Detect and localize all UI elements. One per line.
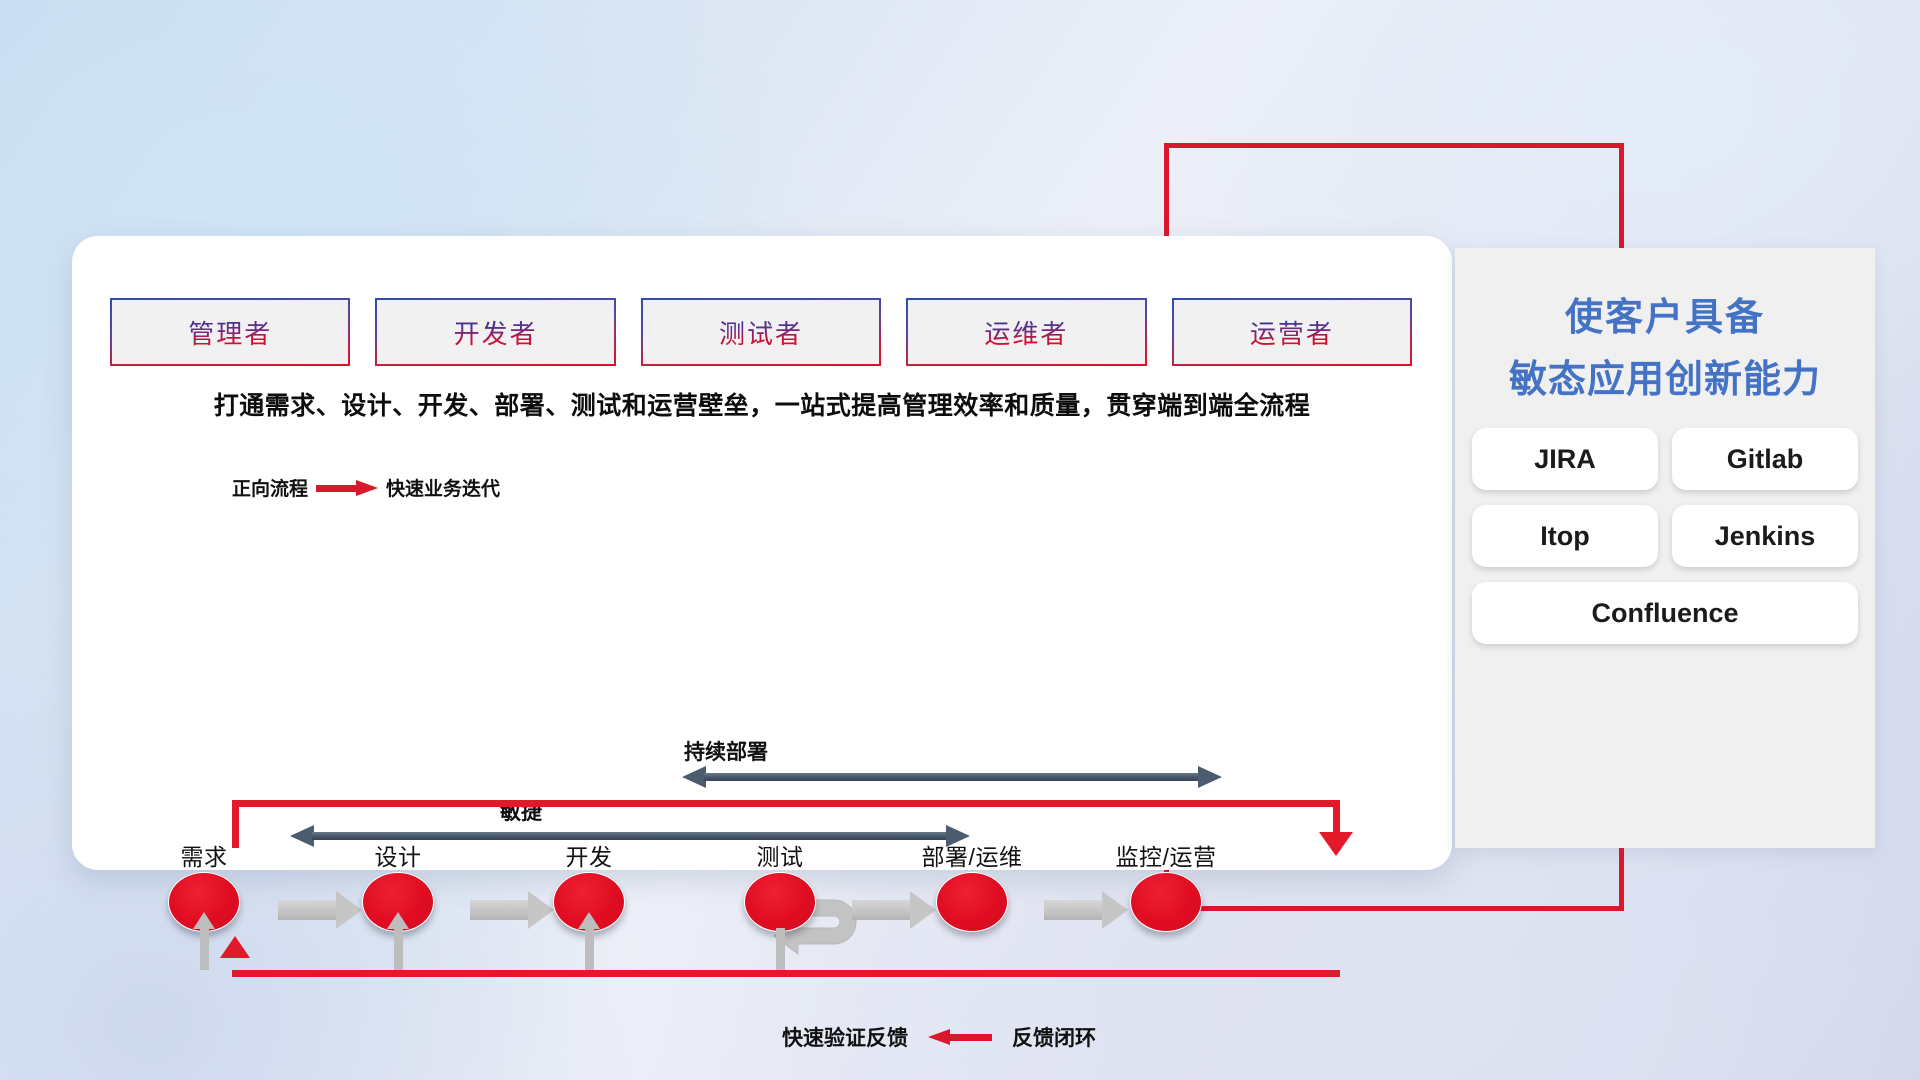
role-label: 管理者: [188, 314, 272, 351]
pipeline-row: 需求 设计 开发 测试: [110, 836, 1412, 946]
role-label: 测试者: [719, 314, 803, 351]
tool-chip-list: JIRA Gitlab Itop Jenkins Confluence: [1465, 428, 1865, 644]
role-label: 开发者: [454, 314, 538, 351]
pipeline-node-dot: [936, 872, 1008, 932]
role-box-operator[interactable]: 运营者: [1172, 298, 1412, 366]
pipeline-node-deploy-ops[interactable]: 部署/运维: [936, 872, 1008, 932]
pipeline-node-monitor-operate[interactable]: 监控/运营: [1130, 872, 1202, 932]
feedback-stem-testing: [776, 928, 785, 970]
forward-flow-legend: 正向流程 快速业务迭代: [232, 474, 500, 501]
arrow-left-red-icon: [928, 1029, 992, 1045]
tool-chip-itop[interactable]: Itop: [1472, 505, 1658, 567]
continuous-deployment-span-arrow-icon: [682, 766, 1222, 788]
pipeline-arrow-2-icon: [470, 891, 554, 929]
feedback-rail-bottom: [232, 970, 1340, 977]
panel-title-line-1: 使客户具备: [1455, 286, 1875, 341]
feedback-stem-design: [394, 928, 403, 970]
role-label: 运营者: [1250, 314, 1334, 351]
outcome-panel: 使客户具备 敏态应用创新能力 JIRA Gitlab Itop Jenkins …: [1455, 248, 1875, 848]
pipeline-node-label: 测试: [757, 838, 804, 872]
tool-chip-jenkins[interactable]: Jenkins: [1672, 505, 1858, 567]
pipeline-node-label: 开发: [566, 838, 613, 872]
arrow-right-red-icon: [316, 480, 378, 496]
outer-loop-top-segment: [1164, 143, 1624, 148]
feedback-stem-development: [585, 928, 594, 970]
tool-chip-confluence[interactable]: Confluence: [1472, 582, 1858, 644]
feedback-loop-legend: 快速验证反馈 反馈闭环: [782, 1022, 1096, 1052]
role-box-ops[interactable]: 运维者: [906, 298, 1146, 366]
tool-chip-jira[interactable]: JIRA: [1472, 428, 1658, 490]
role-box-manager[interactable]: 管理者: [110, 298, 350, 366]
fast-validation-feedback-label: 快速验证反馈: [782, 1022, 908, 1052]
feedback-closed-loop-label: 反馈闭环: [1012, 1022, 1096, 1052]
role-box-row: 管理者 开发者 测试者 运维者 运营者: [110, 298, 1412, 366]
feedback-rail-top: [232, 800, 1340, 807]
panel-title-line-2: 敏态应用创新能力: [1455, 348, 1875, 403]
pipeline-arrow-3-icon: [852, 891, 936, 929]
pipeline-node-testing[interactable]: 测试: [744, 872, 816, 932]
pipeline-node-dot: [744, 872, 816, 932]
role-box-tester[interactable]: 测试者: [641, 298, 881, 366]
role-box-developer[interactable]: 开发者: [375, 298, 615, 366]
tool-chip-gitlab[interactable]: Gitlab: [1672, 428, 1858, 490]
pipeline-node-label: 需求: [181, 838, 228, 872]
forward-flow-label: 正向流程: [232, 474, 308, 501]
devops-flow-card: 管理者 开发者 测试者 运维者 运营者 打通需求、设计、开发、部署、测试和运营壁…: [72, 236, 1452, 870]
pipeline-node-label: 监控/运营: [1116, 838, 1217, 872]
slide-background: 管理者 开发者 测试者 运维者 运营者 打通需求、设计、开发、部署、测试和运营壁…: [0, 0, 1920, 1080]
pipeline-node-dot: [1130, 872, 1202, 932]
pipeline-node-label: 部署/运维: [922, 838, 1023, 872]
pipeline-node-label: 设计: [375, 838, 422, 872]
continuous-deployment-label: 持续部署: [684, 736, 768, 766]
pipeline-arrow-4-icon: [1044, 891, 1128, 929]
role-label: 运维者: [984, 314, 1068, 351]
description-text: 打通需求、设计、开发、部署、测试和运营壁垒，一站式提高管理效率和质量，贯穿端到端…: [106, 386, 1418, 422]
fast-business-iteration-label: 快速业务迭代: [386, 474, 500, 501]
feedback-stem-requirement: [200, 928, 209, 970]
feedback-rail-right: [1333, 800, 1340, 836]
pipeline-arrow-1-icon: [278, 891, 362, 929]
